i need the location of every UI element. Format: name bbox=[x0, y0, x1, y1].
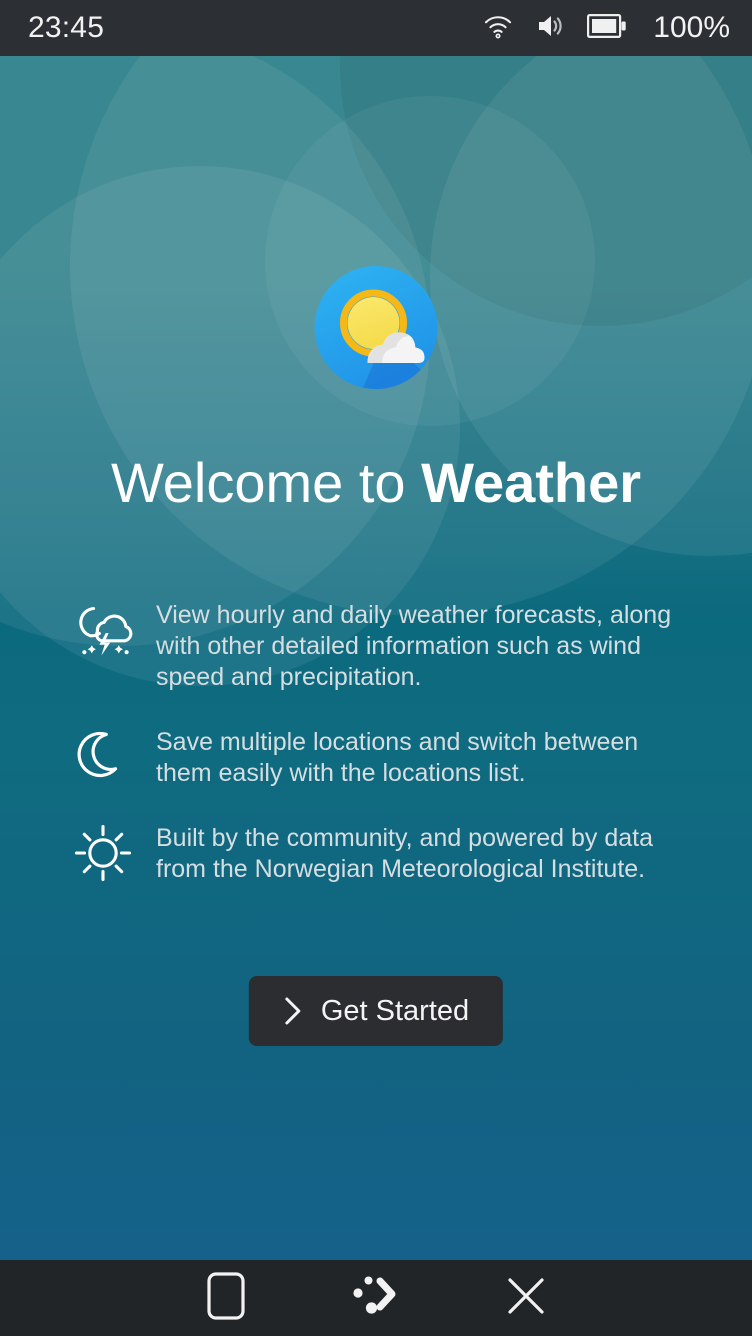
storm-cloud-moon-icon bbox=[72, 599, 134, 661]
status-bar[interactable]: 23:45 bbox=[0, 0, 752, 56]
wifi-icon bbox=[483, 13, 513, 44]
status-icon-group: 100% bbox=[483, 11, 730, 45]
close-x-icon bbox=[504, 1274, 548, 1323]
nav-home-button[interactable] bbox=[150, 1260, 300, 1336]
welcome-content: Welcome to Weather bbox=[0, 56, 752, 1260]
phone-screen: 23:45 bbox=[0, 0, 752, 1336]
dots-chevron-icon bbox=[350, 1273, 402, 1324]
nav-spacer-left bbox=[0, 1260, 150, 1336]
battery-percentage-label: 100% bbox=[653, 11, 730, 45]
nav-app-switcher-button[interactable] bbox=[301, 1260, 451, 1336]
volume-icon bbox=[535, 12, 565, 45]
home-rounded-rect-icon bbox=[207, 1272, 245, 1325]
feature-text: View hourly and daily weather forecasts,… bbox=[156, 596, 692, 693]
feature-text: Built by the community, and powered by d… bbox=[156, 819, 692, 885]
get-started-label: Get Started bbox=[321, 997, 469, 1026]
nav-spacer-right bbox=[602, 1260, 752, 1336]
weather-app-icon bbox=[315, 266, 438, 389]
feature-list: View hourly and daily weather forecasts,… bbox=[72, 596, 692, 915]
sun-icon bbox=[72, 822, 134, 884]
system-navigation-bar bbox=[0, 1260, 752, 1336]
get-started-button[interactable]: Get Started bbox=[249, 976, 503, 1046]
list-item: Built by the community, and powered by d… bbox=[72, 819, 692, 885]
chevron-right-icon bbox=[283, 995, 303, 1027]
list-item: View hourly and daily weather forecasts,… bbox=[72, 596, 692, 693]
feature-text: Save multiple locations and switch betwe… bbox=[156, 723, 692, 789]
page-title-prefix: Welcome to bbox=[111, 451, 421, 514]
battery-icon bbox=[587, 14, 627, 43]
page-title-emphasis: Weather bbox=[421, 451, 641, 514]
list-item: Save multiple locations and switch betwe… bbox=[72, 723, 692, 789]
crescent-moon-icon bbox=[72, 726, 134, 788]
nav-close-button[interactable] bbox=[451, 1260, 601, 1336]
page-title: Welcome to Weather bbox=[0, 451, 752, 515]
status-clock: 23:45 bbox=[28, 11, 104, 45]
